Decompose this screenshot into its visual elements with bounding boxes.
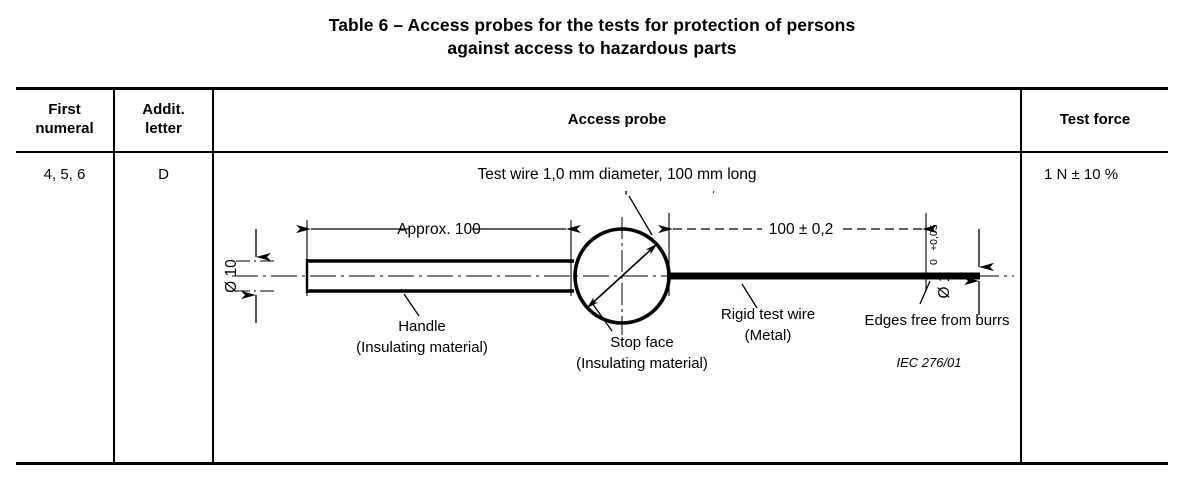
callout-rigid-test-wire-line-1: Rigid test wire [721, 306, 815, 323]
cell-access-probe: Test wire 1,0 mm diameter, 100 mm long [214, 153, 1020, 462]
callout-rigid-test-wire: Rigid test wire (Metal) [721, 306, 815, 344]
dimension-wire-length-label: 100 ± 0,2 [769, 221, 834, 238]
iec-reference: IEC 276/01 [896, 355, 961, 370]
column-header-access-probe-label: Access probe [568, 110, 666, 129]
column-header-test-force-label: Test force [1060, 110, 1131, 129]
title-line-2: against access to hazardous parts [0, 37, 1184, 60]
callout-handle: Handle (Insulating material) [356, 318, 488, 356]
column-header-addit-letter-line-2: letter [145, 120, 182, 137]
cell-test-force: 1 N ± 10 % [1022, 153, 1168, 183]
callout-handle-line-2: (Insulating material) [356, 339, 488, 356]
probe-caption-text: Test wire 1,0 mm diameter, 100 mm long [477, 166, 756, 183]
cell-first-numeral-value: 4, 5, 6 [44, 166, 86, 183]
dimension-handle-length-label: Approx. 100 [397, 221, 481, 238]
callout-stop-face: Stop face (Insulating material) [576, 334, 708, 372]
callout-edges-free-from-burrs: Edges free from burrs [864, 312, 1009, 329]
column-header-first-numeral-line-2: numeral [35, 120, 93, 137]
column-header-addit-letter-line-1: Addit. [142, 101, 185, 118]
column-header-first-numeral: First numeral [16, 87, 113, 151]
dimension-wire-length: 100 ± 0,2 [673, 221, 922, 238]
rigid-test-wire [667, 273, 980, 276]
page-title: Table 6 – Access probes for the tests fo… [0, 14, 1184, 60]
callout-rigid-test-wire-line-2: (Metal) [745, 327, 792, 344]
callout-stop-face-line-2: (Insulating material) [576, 355, 708, 372]
access-probe-table: First numeral Addit. letter Access probe… [16, 87, 1168, 465]
dimension-handle-length: Approx. 100 [311, 221, 566, 238]
cell-addit-letter-value: D [158, 166, 169, 183]
dimension-sphere-label: Sphere 35 ± 0,2 [614, 191, 724, 195]
dimension-wire-tolerance-upper: +0,05 [928, 224, 940, 251]
callout-handle-line-1: Handle [398, 318, 446, 335]
column-header-test-force: Test force [1022, 87, 1168, 151]
document-page: Table 6 – Access probes for the tests fo… [0, 0, 1184, 480]
probe-caption: Test wire 1,0 mm diameter, 100 mm long [214, 166, 1020, 184]
cell-first-numeral: 4, 5, 6 [16, 153, 113, 183]
title-line-1: Table 6 – Access probes for the tests fo… [329, 15, 856, 35]
table-border-bottom [16, 462, 1168, 465]
column-header-first-numeral-line-1: First [48, 101, 81, 118]
callout-stop-face-line-1: Stop face [610, 334, 673, 351]
column-header-access-probe: Access probe [214, 87, 1020, 151]
column-header-addit-letter: Addit. letter [115, 87, 212, 151]
cell-test-force-value: 1 N ± 10 % [1044, 166, 1118, 183]
dimension-wire-diameter: Ø 1 +0,05 0 [928, 224, 979, 315]
dimension-wire-tolerance-lower: 0 [928, 259, 940, 265]
cell-addit-letter: D [115, 153, 212, 183]
test-wire-probe-drawing: Approx. 100 100 ± 0,2 Ø 10 [214, 191, 1020, 456]
